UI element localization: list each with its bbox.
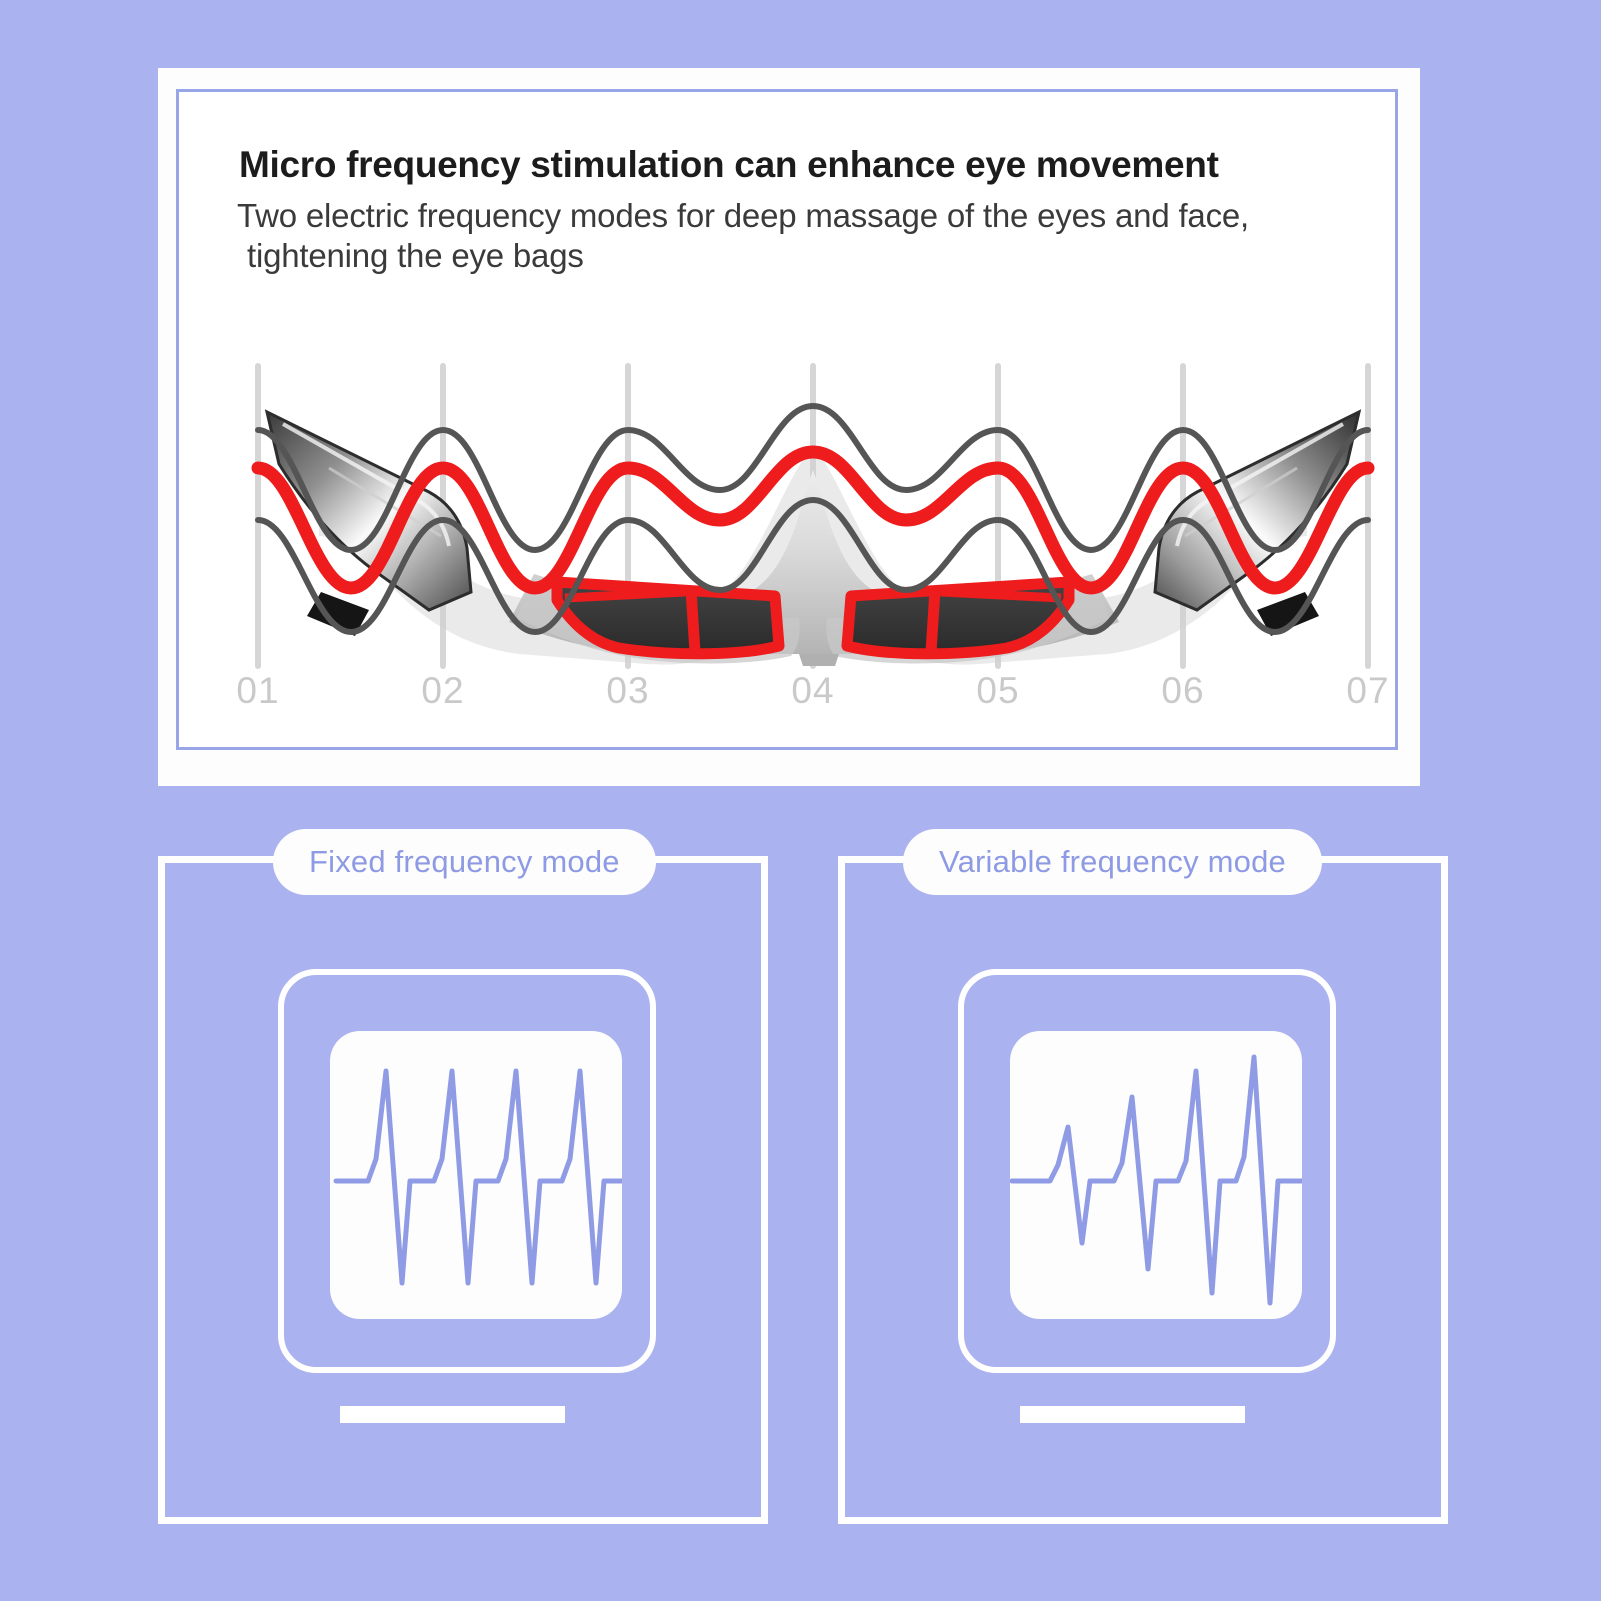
axis-label-02: 02 bbox=[421, 670, 464, 712]
variable-frequency-icon-frame bbox=[958, 969, 1336, 1373]
axis-label-01: 01 bbox=[236, 670, 279, 712]
waveform-fixed-icon bbox=[330, 1031, 622, 1319]
fixed-frequency-mode-card[interactable]: Fixed frequency mode bbox=[158, 856, 768, 1524]
subtitle-line-2: tightening the eye bags bbox=[237, 236, 1377, 276]
fixed-frequency-icon-frame bbox=[278, 969, 656, 1373]
fixed-mode-divider-bar bbox=[340, 1406, 565, 1423]
poster-root: Micro frequency stimulation can enhance … bbox=[0, 0, 1601, 1601]
axis-label-05: 05 bbox=[976, 670, 1019, 712]
waveform-variable-icon bbox=[1010, 1031, 1302, 1319]
axis-label-04: 04 bbox=[791, 670, 834, 712]
variable-frequency-mode-label: Variable frequency mode bbox=[903, 829, 1322, 895]
subtitle-line-1: Two electric frequency modes for deep ma… bbox=[237, 197, 1249, 234]
variable-frequency-mode-card[interactable]: Variable frequency mode bbox=[838, 856, 1448, 1524]
axis-label-06: 06 bbox=[1161, 670, 1204, 712]
axis-label-07: 07 bbox=[1346, 670, 1389, 712]
fixed-frequency-mode-label: Fixed frequency mode bbox=[273, 829, 656, 895]
axis-label-03: 03 bbox=[606, 670, 649, 712]
page-title: Micro frequency stimulation can enhance … bbox=[239, 144, 1359, 186]
feature-card-inner-frame: Micro frequency stimulation can enhance … bbox=[176, 89, 1398, 750]
frequency-diagram: 01 02 03 04 05 06 07 bbox=[179, 360, 1401, 750]
variable-mode-divider-bar bbox=[1020, 1406, 1245, 1423]
page-subtitle: Two electric frequency modes for deep ma… bbox=[237, 196, 1377, 277]
feature-card: Micro frequency stimulation can enhance … bbox=[158, 68, 1420, 786]
